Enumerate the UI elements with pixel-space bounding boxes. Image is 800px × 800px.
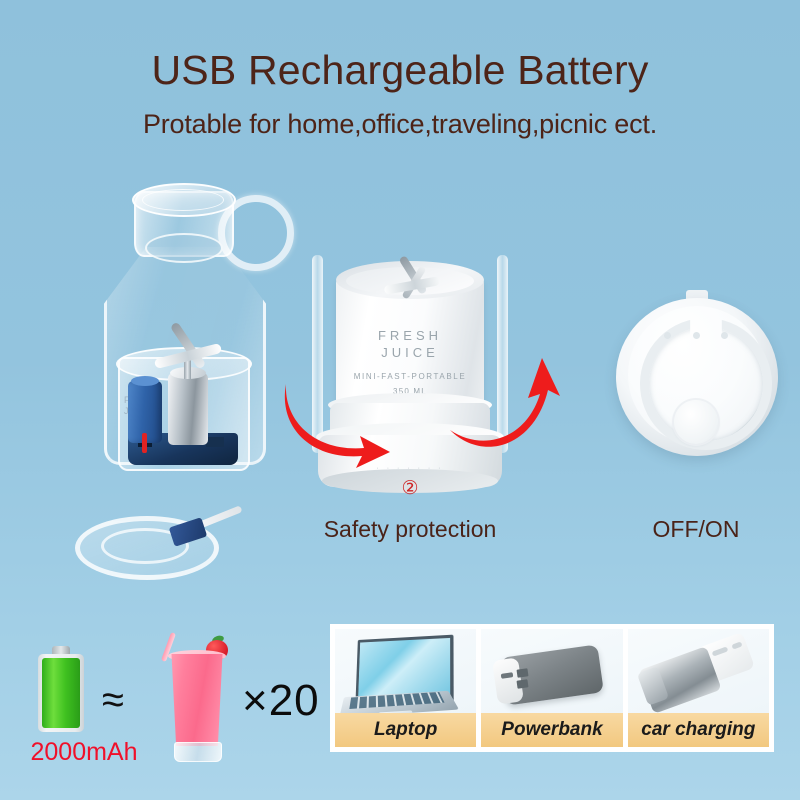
safety-protection-caption: Safety protection	[300, 516, 520, 543]
battery-icon	[38, 654, 84, 732]
car-charger-icon	[628, 629, 769, 713]
approximately-symbol: ≈	[102, 678, 124, 723]
battery-capacity-label: 2000mAh	[24, 738, 144, 767]
red-wire	[142, 433, 147, 453]
step-two-marker: ②	[300, 477, 520, 500]
powerbank-usb-port-2	[517, 679, 529, 688]
motor-cylinder	[168, 373, 208, 445]
charging-option-label: Laptop	[335, 713, 476, 747]
cup-multiplier-label: ×20	[242, 676, 320, 726]
laptop-icon	[335, 629, 476, 713]
smoothie-liquid	[168, 654, 226, 746]
powerbank-usb-port-1	[517, 668, 529, 677]
charging-option-label: car charging	[628, 713, 769, 747]
page-subtitle: Protable for home,office,traveling,picni…	[0, 109, 800, 140]
charging-option-card[interactable]: Laptop	[335, 629, 476, 747]
charging-option-card[interactable]: Powerbank	[481, 629, 622, 747]
power-button[interactable]	[674, 400, 718, 444]
off-on-caption: OFF/ON	[608, 516, 784, 543]
charging-option-label: Powerbank	[481, 713, 622, 747]
brand-line2: JUICE	[381, 345, 439, 360]
rotate-arrow-left-icon	[282, 378, 392, 474]
led-indicators	[664, 332, 728, 339]
battery-fill	[42, 658, 80, 728]
brand-line1: FRESH	[378, 328, 442, 343]
infographic-canvas: USB Rechargeable Battery Protable for ho…	[0, 0, 800, 800]
cutaway-bottle-illustration: FRESH JUICE	[82, 185, 292, 525]
smoothie-glass-illustration	[160, 638, 234, 762]
charging-options-panel: Laptop Powerbank car charging	[330, 624, 774, 752]
bottle-rim-inner	[142, 189, 224, 211]
power-base-illustration	[608, 284, 784, 460]
battery-capacity-equation: 2000mAh ≈ ×20	[24, 630, 324, 770]
led-dot-1-icon	[664, 332, 671, 339]
charging-option-card[interactable]: car charging	[628, 629, 769, 747]
detached-ring-base	[75, 512, 225, 574]
page-title: USB Rechargeable Battery	[0, 47, 800, 94]
rotate-arrow-right-icon	[448, 352, 562, 472]
led-dot-3-icon	[721, 332, 728, 339]
battery-cap-icon	[52, 646, 70, 654]
glass-base	[174, 742, 222, 762]
led-dot-2-icon	[693, 332, 700, 339]
powerbank-icon	[481, 629, 622, 713]
